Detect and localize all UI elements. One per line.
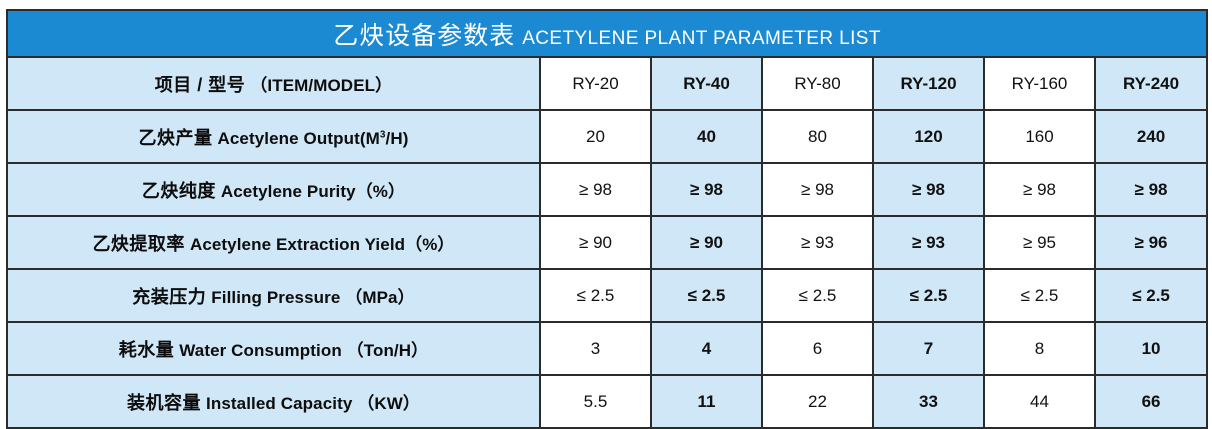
table-row-installed-capacity: 装机容量Installed Capacity （KW） 5.5 11 22 33… [7, 375, 1207, 428]
cell-purity-ry-80: ≥ 98 [762, 163, 873, 216]
title-row: 乙炔设备参数表ACETYLENE PLANT PARAMETER LIST [7, 10, 1207, 57]
table-title: 乙炔设备参数表ACETYLENE PLANT PARAMETER LIST [7, 10, 1207, 57]
cell-yield-ry-20: ≥ 90 [540, 216, 651, 269]
row-label-acetylene-output: 乙炔产量Acetylene Output(M3/H) [7, 110, 540, 163]
cell-purity-ry-160: ≥ 98 [984, 163, 1095, 216]
cell-yield-ry-120: ≥ 93 [873, 216, 984, 269]
cell-pressure-ry-20: ≤ 2.5 [540, 269, 651, 322]
row-label-en: Filling Pressure （MPa） [211, 288, 414, 307]
model-header-ry-20: RY-20 [540, 57, 651, 110]
model-header-ry-160: RY-160 [984, 57, 1095, 110]
row-label-cn: 乙炔产量 [138, 128, 212, 148]
cell-water-ry-20: 3 [540, 322, 651, 375]
cell-water-ry-40: 4 [651, 322, 762, 375]
parameter-sheet: 乙炔设备参数表ACETYLENE PLANT PARAMETER LIST 项目… [0, 0, 1212, 414]
model-header-ry-240: RY-240 [1095, 57, 1207, 110]
table-body: 乙炔设备参数表ACETYLENE PLANT PARAMETER LIST 项目… [7, 10, 1207, 428]
acetylene-plant-parameter-table: 乙炔设备参数表ACETYLENE PLANT PARAMETER LIST 项目… [6, 9, 1208, 429]
table-row-extraction-yield: 乙炔提取率Acetylene Extraction Yield（%） ≥ 90 … [7, 216, 1207, 269]
row-label-cn: 耗水量 [119, 340, 175, 360]
cell-water-ry-240: 10 [1095, 322, 1207, 375]
row-label-cn: 乙炔纯度 [142, 181, 216, 201]
table-title-en: ACETYLENE PLANT PARAMETER LIST [522, 28, 881, 49]
row-label-en: Acetylene Output(M3/H) [217, 129, 408, 148]
cell-output-ry-20: 20 [540, 110, 651, 163]
cell-capacity-ry-120: 33 [873, 375, 984, 428]
table-row-water-consumption: 耗水量Water Consumption （Ton/H） 3 4 6 7 8 1… [7, 322, 1207, 375]
row-label-cn: 乙炔提取率 [92, 234, 185, 254]
cell-water-ry-120: 7 [873, 322, 984, 375]
row-label-filling-pressure: 充装压力Filling Pressure （MPa） [7, 269, 540, 322]
cell-yield-ry-40: ≥ 90 [651, 216, 762, 269]
cell-capacity-ry-40: 11 [651, 375, 762, 428]
cell-capacity-ry-80: 22 [762, 375, 873, 428]
row-label-extraction-yield: 乙炔提取率Acetylene Extraction Yield（%） [7, 216, 540, 269]
cell-water-ry-80: 6 [762, 322, 873, 375]
row-label-en: Water Consumption （Ton/H） [179, 341, 428, 360]
header-label-cell: 项目 / 型号（ITEM/MODEL） [7, 57, 540, 110]
row-label-cn: 装机容量 [127, 393, 201, 413]
header-label-en: （ITEM/MODEL） [250, 76, 392, 95]
cell-output-ry-120: 120 [873, 110, 984, 163]
cell-purity-ry-120: ≥ 98 [873, 163, 984, 216]
row-label-en: Installed Capacity （KW） [206, 394, 420, 413]
cell-capacity-ry-20: 5.5 [540, 375, 651, 428]
table-row-acetylene-output: 乙炔产量Acetylene Output(M3/H) 20 40 80 120 … [7, 110, 1207, 163]
cell-purity-ry-240: ≥ 98 [1095, 163, 1207, 216]
table-title-cn: 乙炔设备参数表 [333, 22, 515, 50]
cell-output-ry-160: 160 [984, 110, 1095, 163]
cell-yield-ry-240: ≥ 96 [1095, 216, 1207, 269]
row-label-water-consumption: 耗水量Water Consumption （Ton/H） [7, 322, 540, 375]
cell-yield-ry-80: ≥ 93 [762, 216, 873, 269]
row-label-en: Acetylene Extraction Yield（%） [190, 235, 455, 254]
cell-output-ry-80: 80 [762, 110, 873, 163]
cell-purity-ry-20: ≥ 98 [540, 163, 651, 216]
row-label-acetylene-purity: 乙炔纯度Acetylene Purity（%） [7, 163, 540, 216]
model-header-ry-40: RY-40 [651, 57, 762, 110]
row-label-installed-capacity: 装机容量Installed Capacity （KW） [7, 375, 540, 428]
table-row-acetylene-purity: 乙炔纯度Acetylene Purity（%） ≥ 98 ≥ 98 ≥ 98 ≥… [7, 163, 1207, 216]
row-label-cn: 充装压力 [132, 287, 206, 307]
cell-capacity-ry-160: 44 [984, 375, 1095, 428]
cell-water-ry-160: 8 [984, 322, 1095, 375]
cell-pressure-ry-160: ≤ 2.5 [984, 269, 1095, 322]
model-header-row: 项目 / 型号（ITEM/MODEL） RY-20 RY-40 RY-80 RY… [7, 57, 1207, 110]
cell-pressure-ry-40: ≤ 2.5 [651, 269, 762, 322]
table-row-filling-pressure: 充装压力Filling Pressure （MPa） ≤ 2.5 ≤ 2.5 ≤… [7, 269, 1207, 322]
row-label-en: Acetylene Purity（%） [221, 182, 405, 201]
cell-purity-ry-40: ≥ 98 [651, 163, 762, 216]
model-header-ry-120: RY-120 [873, 57, 984, 110]
header-label-cn: 项目 / 型号 [155, 75, 246, 95]
cell-pressure-ry-120: ≤ 2.5 [873, 269, 984, 322]
cell-yield-ry-160: ≥ 95 [984, 216, 1095, 269]
cell-output-ry-240: 240 [1095, 110, 1207, 163]
cell-capacity-ry-240: 66 [1095, 375, 1207, 428]
cell-pressure-ry-80: ≤ 2.5 [762, 269, 873, 322]
cell-output-ry-40: 40 [651, 110, 762, 163]
cell-pressure-ry-240: ≤ 2.5 [1095, 269, 1207, 322]
model-header-ry-80: RY-80 [762, 57, 873, 110]
